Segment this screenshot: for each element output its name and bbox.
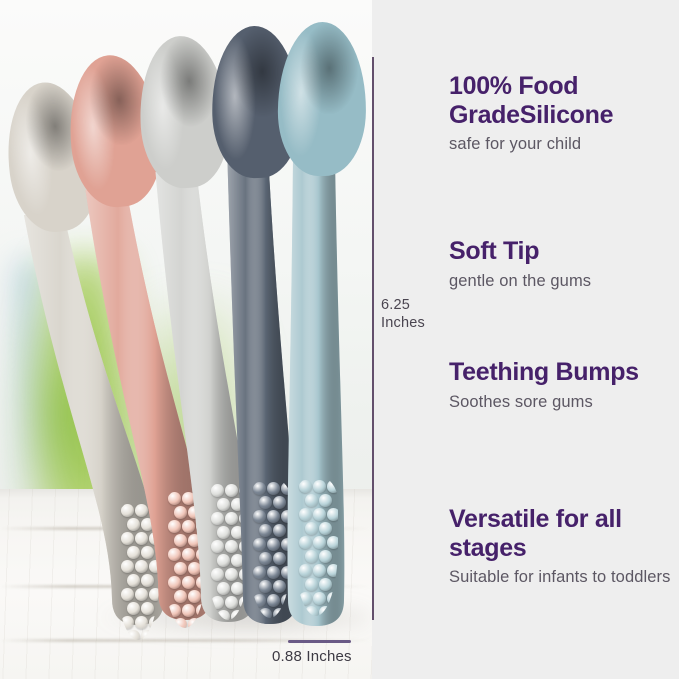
- teething-bump: [135, 616, 148, 629]
- teething-bump: [182, 576, 195, 589]
- product-infographic: 6.25Inches 0.88 Inches 100% Food GradeSi…: [0, 0, 679, 679]
- teething-bump: [225, 484, 238, 497]
- teething-bump: [217, 582, 230, 595]
- feature-title: Versatile for all stages: [449, 505, 674, 562]
- teething-bump: [327, 592, 338, 605]
- feature-item-soft-tip: Soft Tip gentle on the gums: [449, 237, 674, 292]
- teething-bump: [267, 482, 280, 495]
- teething-bump: [231, 582, 244, 595]
- teething-bump: [327, 508, 338, 521]
- teething-bump: [127, 574, 140, 587]
- teething-bump: [319, 550, 332, 563]
- teething-bump: [211, 596, 224, 609]
- teething-bump: [121, 588, 134, 601]
- teething-bump: [225, 512, 238, 525]
- teething-bump: [121, 504, 134, 517]
- teething-bump: [174, 534, 187, 547]
- teething-bump: [231, 526, 244, 539]
- teething-bump: [141, 518, 154, 531]
- teething-bump: [259, 608, 272, 618]
- teething-bump: [141, 602, 154, 615]
- length-measure-line: [372, 57, 374, 620]
- teething-bump: [188, 590, 201, 603]
- teething-bump: [273, 496, 286, 509]
- teething-bump: [149, 532, 160, 545]
- width-measure-line: [288, 640, 351, 643]
- teething-bump: [259, 552, 272, 565]
- teething-bump: [141, 546, 154, 559]
- teething-bump: [149, 560, 160, 573]
- teething-bump: [231, 498, 244, 511]
- teething-bump: [259, 496, 272, 509]
- teething-bump: [135, 504, 148, 517]
- teething-bump: [225, 540, 238, 553]
- product-photo: [0, 0, 372, 679]
- teething-bump: [196, 576, 207, 589]
- teething-bump: [273, 580, 286, 593]
- teething-bump: [327, 564, 338, 577]
- teething-bump: [319, 606, 332, 616]
- teething-bump: [313, 480, 326, 493]
- teething-bump: [174, 562, 187, 575]
- teething-bump: [217, 526, 230, 539]
- teething-bump: [313, 536, 326, 549]
- teething-bump-pad-light-grey: [206, 480, 250, 620]
- teething-bump: [188, 618, 201, 628]
- teething-bump: [305, 578, 318, 591]
- teething-bump: [305, 606, 318, 616]
- teething-bump: [319, 522, 332, 535]
- feature-subtitle: Soothes sore gums: [449, 391, 674, 413]
- teething-bump: [299, 592, 312, 605]
- teething-bump: [253, 594, 266, 607]
- teething-bump: [135, 560, 148, 573]
- teething-bump: [211, 540, 224, 553]
- teething-bump: [267, 566, 280, 579]
- teething-bump: [168, 520, 181, 533]
- teething-bump: [174, 506, 187, 519]
- teething-bump: [299, 508, 312, 521]
- teething-bump: [174, 590, 187, 603]
- teething-bump: [313, 592, 326, 605]
- teething-bump: [305, 522, 318, 535]
- teething-bump: [281, 594, 292, 607]
- teething-bump: [313, 508, 326, 521]
- teething-bump: [319, 494, 332, 507]
- teething-bump: [168, 604, 181, 617]
- teething-bump: [281, 538, 292, 551]
- teething-bump: [188, 506, 201, 519]
- teething-bump: [217, 498, 230, 511]
- teething-bump: [149, 504, 160, 517]
- teething-bump: [182, 492, 195, 505]
- feature-list: 100% Food GradeSilicone safe for your ch…: [449, 0, 679, 679]
- teething-bump: [182, 604, 195, 617]
- teething-bump: [211, 512, 224, 525]
- teething-bump: [231, 610, 244, 620]
- teething-bump: [149, 588, 160, 601]
- teething-bump: [168, 492, 181, 505]
- feature-subtitle: Suitable for infants to toddlers: [449, 566, 674, 588]
- teething-bump: [127, 602, 140, 615]
- teething-bump: [327, 480, 338, 493]
- teething-bump: [127, 518, 140, 531]
- teething-bump: [259, 524, 272, 537]
- feature-item-versatile: Versatile for all stages Suitable for in…: [449, 505, 674, 588]
- teething-bump: [211, 484, 224, 497]
- teething-bump: [259, 580, 272, 593]
- feature-item-teething-bumps: Teething Bumps Soothes sore gums: [449, 358, 674, 413]
- teething-bump: [141, 630, 154, 640]
- teething-bump: [225, 596, 238, 609]
- teething-bump: [273, 608, 286, 618]
- teething-bump: [281, 482, 292, 495]
- teething-bump: [299, 536, 312, 549]
- teething-bump: [253, 510, 266, 523]
- feature-subtitle: safe for your child: [449, 133, 674, 155]
- teething-bump: [239, 596, 250, 609]
- teething-bump: [196, 604, 207, 617]
- teething-bump: [188, 534, 201, 547]
- teething-bump: [281, 566, 292, 579]
- teething-bump: [127, 546, 140, 559]
- teething-bump: [319, 578, 332, 591]
- teething-bump: [211, 568, 224, 581]
- width-measure-label: 0.88 Inches: [272, 648, 352, 665]
- feature-subtitle: gentle on the gums: [449, 270, 674, 292]
- teething-bump: [217, 554, 230, 567]
- teething-bump: [267, 510, 280, 523]
- teething-bump: [231, 554, 244, 567]
- teething-bump: [281, 510, 292, 523]
- teething-bump: [253, 482, 266, 495]
- teething-bump: [121, 616, 134, 629]
- teething-bump: [253, 566, 266, 579]
- teething-bump: [313, 564, 326, 577]
- teething-bump-pad-blush-pink: [163, 488, 207, 628]
- teething-bump: [305, 494, 318, 507]
- feature-title: 100% Food GradeSilicone: [449, 72, 674, 129]
- feature-title: Teething Bumps: [449, 358, 674, 387]
- teething-bump: [267, 538, 280, 551]
- teething-bump: [182, 548, 195, 561]
- teething-bump: [217, 610, 230, 620]
- teething-bump: [174, 618, 187, 628]
- teething-bump: [273, 524, 286, 537]
- teething-bump: [121, 532, 134, 545]
- length-measure-label: 6.25Inches: [381, 296, 441, 332]
- teething-bump: [182, 520, 195, 533]
- teething-bump: [327, 536, 338, 549]
- teething-bump: [299, 480, 312, 493]
- teething-bump: [267, 594, 280, 607]
- teething-bump: [225, 568, 238, 581]
- teething-bump: [135, 532, 148, 545]
- teething-bump: [141, 574, 154, 587]
- teething-bump: [188, 562, 201, 575]
- teething-bump-pad-slate-navy: [248, 478, 292, 618]
- teething-bump: [299, 564, 312, 577]
- teething-bump: [168, 576, 181, 589]
- teething-bump-pad-beige: [116, 500, 160, 640]
- teething-bump: [135, 588, 148, 601]
- teething-bump-pad-dusty-teal: [294, 476, 338, 616]
- teething-bump: [305, 550, 318, 563]
- teething-bump: [273, 552, 286, 565]
- teething-bump: [127, 630, 140, 640]
- teething-bump: [168, 548, 181, 561]
- feature-item-food-grade: 100% Food GradeSilicone safe for your ch…: [449, 72, 674, 155]
- feature-title: Soft Tip: [449, 237, 674, 266]
- teething-bump: [149, 616, 160, 629]
- teething-bump: [121, 560, 134, 573]
- teething-bump: [253, 538, 266, 551]
